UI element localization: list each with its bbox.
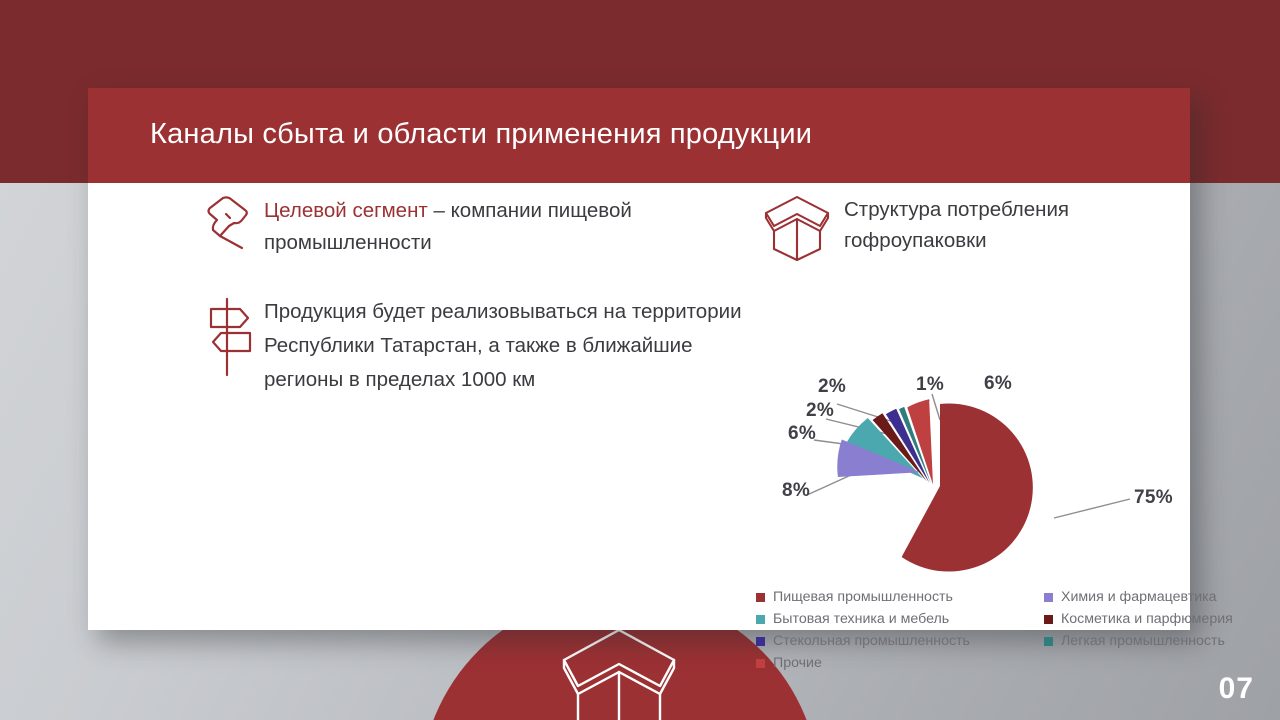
legend-item: Легкая промышленность (1044, 630, 1280, 652)
target-segment-block: Целевой сегмент – компании пищевой промы… (192, 193, 772, 259)
legend-label: Легкая промышленность (1061, 633, 1225, 649)
legend-label: Прочие (773, 655, 822, 671)
left-column: Целевой сегмент – компании пищевой промы… (192, 193, 772, 397)
pushpin-icon (192, 193, 264, 251)
target-segment-text: Целевой сегмент – компании пищевой промы… (264, 193, 772, 259)
distribution-block: Продукция будет реализовываться на терри… (192, 295, 772, 397)
open-box-icon (760, 192, 844, 262)
legend-item: Бытовая техника и мебель (756, 608, 1044, 630)
legend-label: Бытовая техника и мебель (773, 611, 949, 627)
pie-label-appliances-furniture: 6% (788, 423, 816, 445)
legend-item: Прочие (756, 652, 1044, 674)
legend-label: Пищевая промышленность (773, 589, 953, 605)
legend-label: Химия и фармацевтика (1061, 589, 1217, 605)
content-card: Каналы сбыта и области применения продук… (88, 88, 1190, 630)
page-title: Каналы сбыта и области применения продук… (150, 118, 812, 151)
legend-swatch-icon (756, 593, 765, 602)
legend-label: Косметика и парфюмерия (1061, 611, 1233, 627)
chart-heading: Структура потребления гофроупаковки (844, 192, 1180, 256)
pie-slices (837, 399, 1033, 571)
legend-swatch-icon (756, 637, 765, 646)
legend-swatch-icon (1044, 637, 1053, 646)
legend-swatch-icon (756, 659, 765, 668)
page-number: 07 (1219, 672, 1254, 706)
legend-item: Стекольная промышленность (756, 630, 1044, 652)
right-column-header: Структура потребления гофроупаковки (760, 192, 1180, 262)
distribution-text: Продукция будет реализовываться на терри… (264, 295, 772, 397)
legend-swatch-icon (756, 615, 765, 624)
pie-label-other: 6% (984, 373, 1012, 395)
pie-chart: 2% 2% 6% 8% 1% 6% 75% (760, 368, 1280, 598)
pie-label-light-industry: 1% (916, 374, 944, 396)
slide: Каналы сбыта и области применения продук… (0, 0, 1280, 720)
target-segment-accent: Целевой сегмент (264, 199, 428, 222)
legend-swatch-icon (1044, 615, 1053, 624)
pie-label-glass-industry: 2% (818, 376, 846, 398)
legend-swatch-icon (1044, 593, 1053, 602)
legend-item: Химия и фармацевтика (1044, 586, 1280, 608)
chart-legend: Пищевая промышленность Химия и фармацевт… (756, 586, 1280, 674)
open-box-outline-icon (524, 616, 714, 720)
legend-item: Пищевая промышленность (756, 586, 1044, 608)
legend-label: Стекольная промышленность (773, 633, 970, 649)
legend-item: Косметика и парфюмерия (1044, 608, 1280, 630)
signpost-icon (192, 295, 264, 379)
pie-label-food-industry: 75% (1134, 487, 1173, 509)
pie-label-cosmetics: 2% (806, 400, 834, 422)
pie-label-chemistry-pharma: 8% (782, 480, 810, 502)
